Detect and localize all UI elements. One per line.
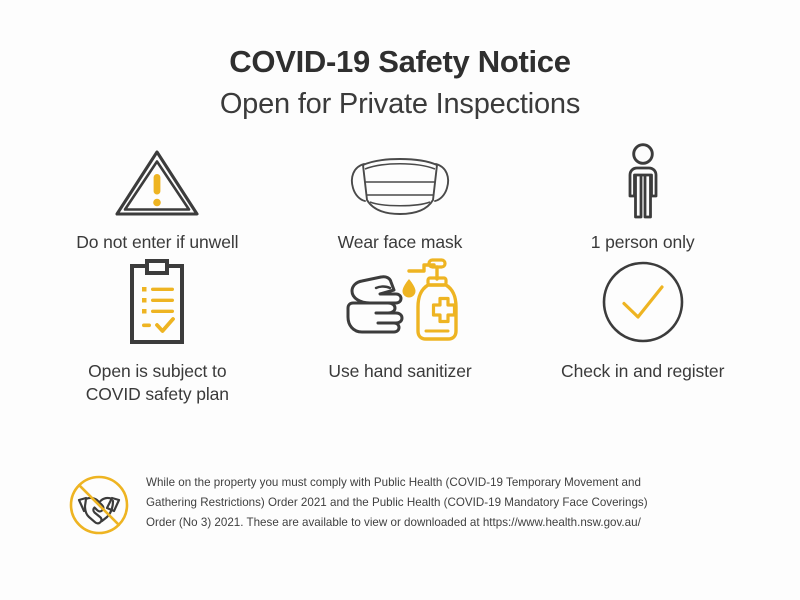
- poster-header: COVID-19 Safety Notice Open for Private …: [0, 0, 800, 122]
- page-title: COVID-19 Safety Notice: [0, 44, 800, 81]
- guideline-item-one-person: 1 person only: [521, 144, 764, 256]
- guideline-label: Wear face mask: [338, 231, 463, 254]
- covid-safety-notice-poster: COVID-19 Safety Notice Open for Private …: [0, 0, 800, 600]
- guideline-label: Use hand sanitizer: [328, 360, 471, 383]
- guideline-label: Open is subject to COVID safety plan: [86, 360, 229, 406]
- no-handshake-icon: [68, 474, 130, 536]
- guideline-item-safety-plan: Open is subject to COVID safety plan: [36, 256, 279, 408]
- footer-line-2: Gathering Restrictions) Order 2021 and t…: [146, 493, 648, 513]
- footer-disclaimer: While on the property you must comply wi…: [0, 470, 800, 536]
- guideline-item-face-mask: Wear face mask: [279, 144, 522, 256]
- face-mask-icon: [337, 144, 463, 222]
- check-circle-icon: [600, 256, 686, 348]
- guideline-label-line2: COVID safety plan: [86, 384, 229, 404]
- guideline-item-check-in: Check in and register: [521, 256, 764, 408]
- guidelines-grid: Do not enter if unwell: [0, 144, 800, 408]
- guideline-label: 1 person only: [591, 231, 695, 254]
- footer-line-3: Order (No 3) 2021. These are available t…: [146, 513, 648, 533]
- page-subtitle: Open for Private Inspections: [0, 87, 800, 122]
- footer-text-block: While on the property you must comply wi…: [146, 470, 648, 533]
- guideline-item-hand-sanitizer: Use hand sanitizer: [279, 256, 522, 408]
- clipboard-checklist-icon: [119, 256, 195, 348]
- hand-sanitizer-icon: [336, 256, 464, 348]
- guideline-label: Check in and register: [561, 360, 724, 383]
- guideline-label-line1: Open is subject to: [88, 361, 226, 381]
- guideline-item-do-not-enter: Do not enter if unwell: [36, 144, 279, 256]
- guideline-label: Do not enter if unwell: [76, 231, 238, 254]
- footer-line-1: While on the property you must comply wi…: [146, 473, 648, 493]
- single-person-icon: [612, 144, 674, 222]
- warning-triangle-icon: [111, 144, 203, 222]
